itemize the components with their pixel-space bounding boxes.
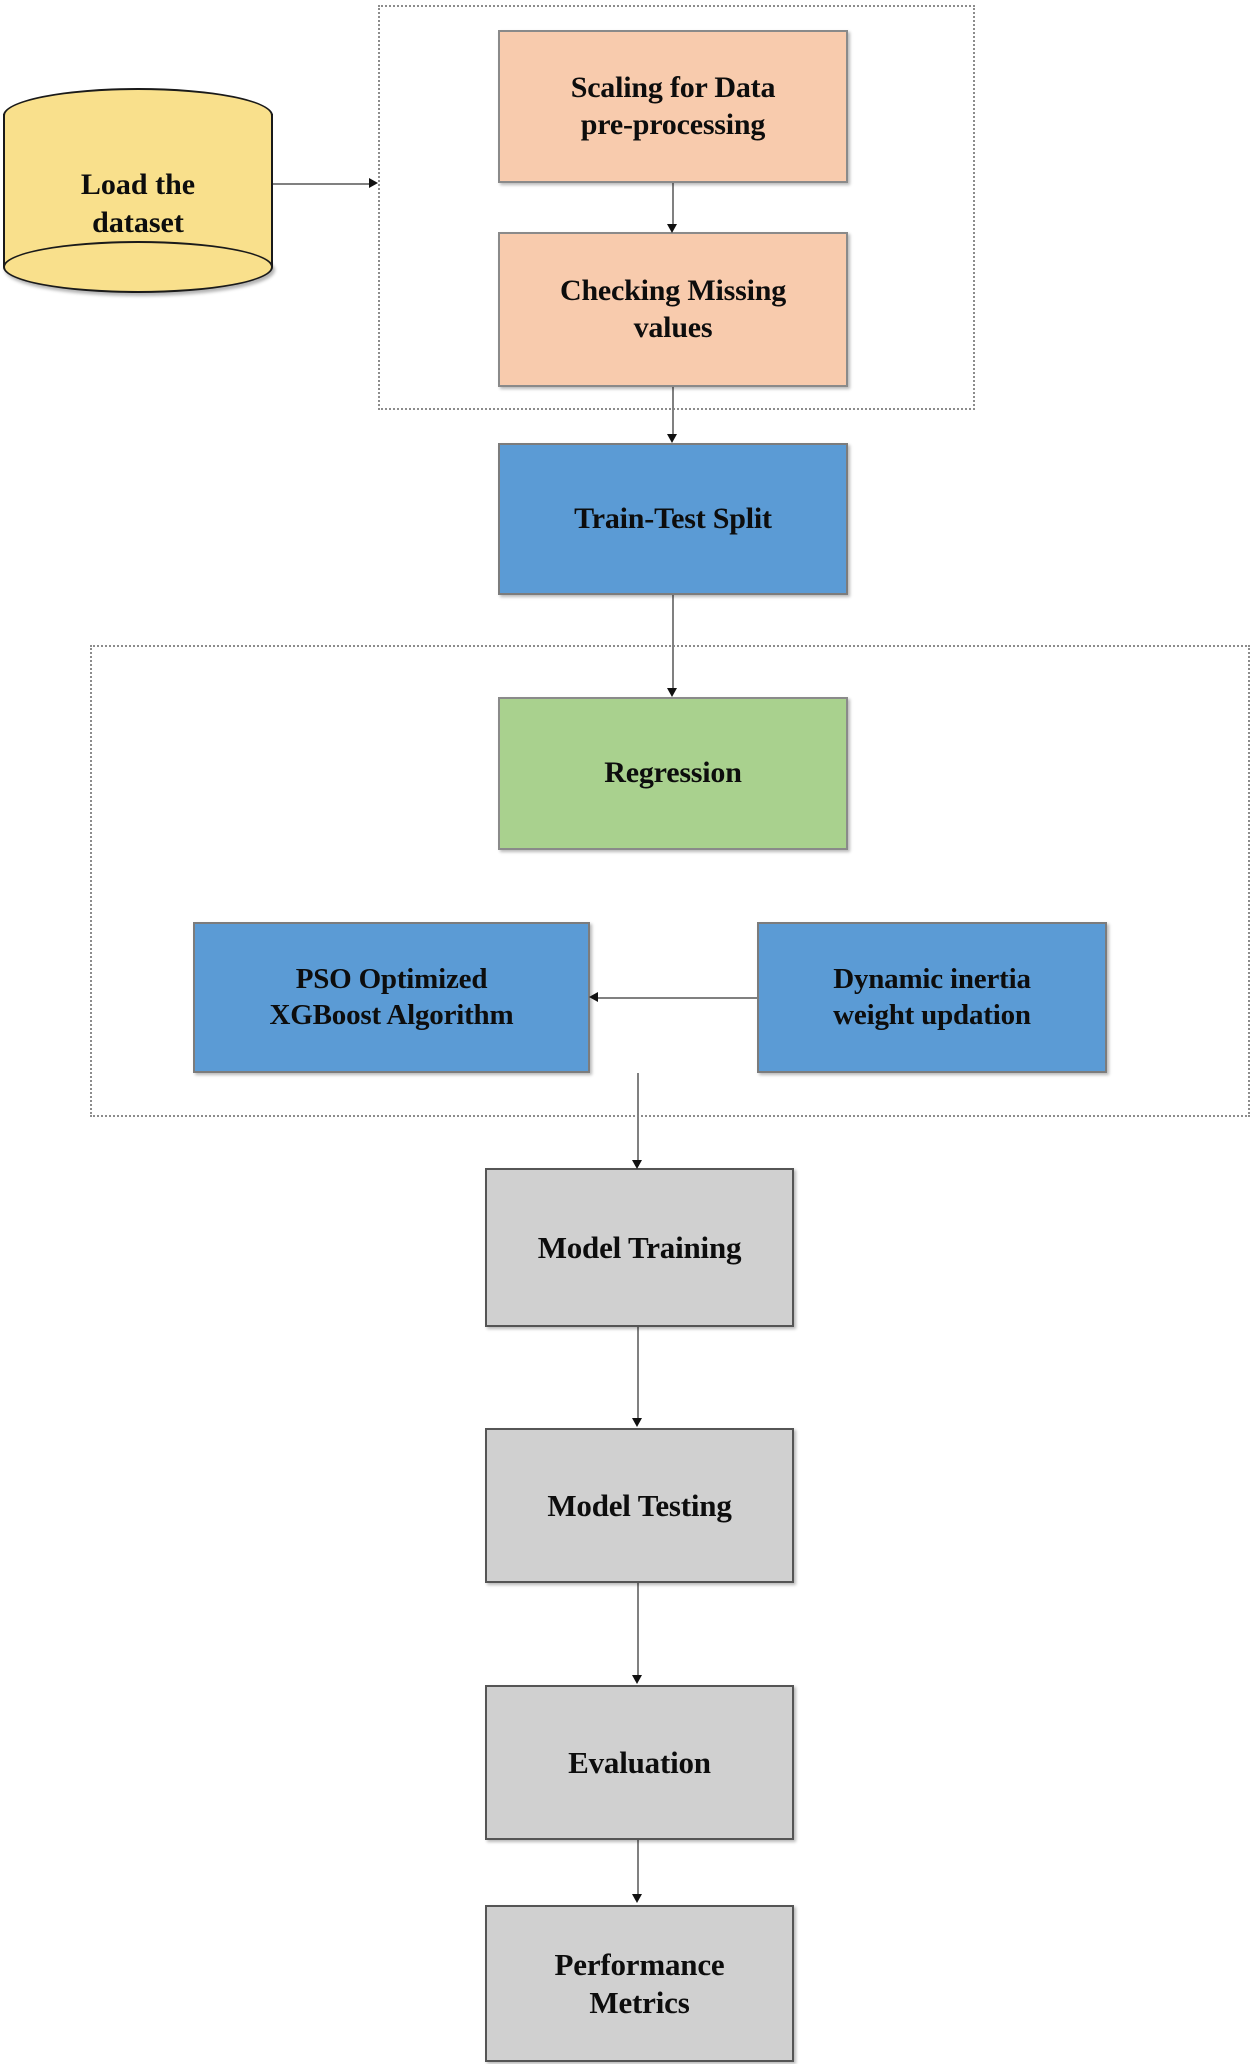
node-dynamic-inertia-weight-updation[interactable]: Dynamic inertia weight updation (757, 922, 1107, 1073)
node-model-testing-label: Model Testing (541, 1487, 737, 1525)
node-checking-missing-values[interactable]: Checking Missing values (498, 232, 848, 387)
node-pso-optimized-xgboost-label: PSO Optimized XGBoost Algorithm (264, 962, 520, 1033)
node-evaluation[interactable]: Evaluation (485, 1685, 794, 1840)
node-scaling-preprocessing[interactable]: Scaling for Data pre-processing (498, 30, 848, 183)
node-regression[interactable]: Regression (498, 697, 848, 850)
edge-training-to-testing (637, 1327, 639, 1422)
node-performance-metrics[interactable]: Performance Metrics (485, 1905, 794, 2062)
edge-inertia-to-pso (596, 997, 757, 999)
node-performance-metrics-label: Performance Metrics (549, 1946, 731, 2022)
edge-dataset-to-preprocessing-arrowhead (369, 178, 378, 188)
edge-training-to-testing-arrowhead (632, 1418, 642, 1427)
edge-missing-to-split (672, 387, 674, 438)
node-evaluation-label: Evaluation (562, 1744, 717, 1782)
node-model-training[interactable]: Model Training (485, 1168, 794, 1327)
flowchart-canvas: Load the dataset Scaling for Data pre-pr… (0, 0, 1255, 2064)
edge-inertia-to-pso-arrowhead (589, 992, 598, 1002)
edge-missing-to-split-arrowhead (667, 434, 677, 443)
node-regression-label: Regression (598, 755, 747, 792)
edge-scaling-to-missing (672, 183, 674, 227)
edge-modeling-to-training (637, 1073, 639, 1166)
edge-dataset-to-preprocessing (272, 183, 372, 185)
node-train-test-split[interactable]: Train-Test Split (498, 443, 848, 595)
node-model-training-label: Model Training (532, 1229, 748, 1267)
node-pso-optimized-xgboost[interactable]: PSO Optimized XGBoost Algorithm (193, 922, 590, 1073)
edge-evaluation-to-metrics (637, 1840, 639, 1898)
edge-testing-to-evaluation (637, 1583, 639, 1679)
node-model-testing[interactable]: Model Testing (485, 1428, 794, 1583)
node-checking-missing-values-label: Checking Missing values (554, 273, 792, 346)
edge-modeling-to-training-arrowhead (632, 1160, 642, 1169)
node-scaling-preprocessing-label: Scaling for Data pre-processing (565, 70, 782, 143)
edge-testing-to-evaluation-arrowhead (632, 1675, 642, 1684)
node-train-test-split-label: Train-Test Split (568, 501, 778, 538)
edge-scaling-to-missing-arrowhead (667, 224, 677, 233)
load-dataset-label: Load the dataset (3, 88, 273, 293)
edge-split-to-regression-arrowhead (667, 688, 677, 697)
node-dynamic-inertia-weight-updation-label: Dynamic inertia weight updation (827, 962, 1037, 1033)
edge-split-to-regression (672, 595, 674, 691)
load-dataset-cylinder[interactable]: Load the dataset (3, 88, 273, 293)
edge-evaluation-to-metrics-arrowhead (632, 1894, 642, 1903)
